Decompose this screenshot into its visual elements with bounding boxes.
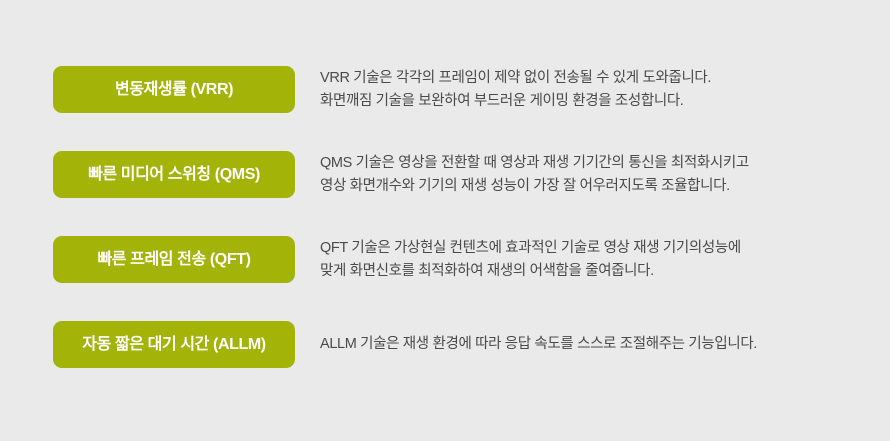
feature-description: VRR 기술은 각각의 프레임이 제약 없이 전송될 수 있게 도와줍니다.화면… [320,66,880,113]
feature-list: 변동재생률 (VRR)VRR 기술은 각각의 프레임이 제약 없이 전송될 수 … [0,0,890,441]
feature-description-line: ALLM 기술은 재생 환경에 따라 응답 속도를 스스로 조절해주는 기능입니… [320,333,880,356]
feature-row: 변동재생률 (VRR)VRR 기술은 각각의 프레임이 제약 없이 전송될 수 … [53,66,853,113]
feature-description: QMS 기술은 영상을 전환할 때 영상과 재생 기기간의 통신을 최적화시키고… [320,151,880,198]
feature-description: ALLM 기술은 재생 환경에 따라 응답 속도를 스스로 조절해주는 기능입니… [320,321,880,368]
feature-description-line: 맞게 화면신호를 최적화하여 재생의 어색함을 줄여줍니다. [320,260,880,283]
feature-description-line: VRR 기술은 각각의 프레임이 제약 없이 전송될 수 있게 도와줍니다. [320,67,880,90]
feature-row: 자동 짧은 대기 시간 (ALLM)ALLM 기술은 재생 환경에 따라 응답 … [53,321,853,368]
feature-badge-label: 변동재생률 (VRR) [115,82,233,98]
feature-badge-label: 자동 짧은 대기 시간 (ALLM) [82,337,265,353]
feature-row: 빠른 프레임 전송 (QFT)QFT 기술은 가상현실 컨텐츠에 효과적인 기술… [53,236,853,283]
feature-description-line: QMS 기술은 영상을 전환할 때 영상과 재생 기기간의 통신을 최적화시키고 [320,152,880,175]
feature-badge-label: 빠른 미디어 스위칭 (QMS) [88,167,260,183]
feature-badge[interactable]: 변동재생률 (VRR) [53,66,295,113]
feature-badge[interactable]: 빠른 프레임 전송 (QFT) [53,236,295,283]
feature-badge[interactable]: 빠른 미디어 스위칭 (QMS) [53,151,295,198]
feature-description: QFT 기술은 가상현실 컨텐츠에 효과적인 기술로 영상 재생 기기의성능에맞… [320,236,880,283]
feature-badge[interactable]: 자동 짧은 대기 시간 (ALLM) [53,321,295,368]
feature-description-line: 영상 화면개수와 기기의 재생 성능이 가장 잘 어우러지도록 조율합니다. [320,175,880,198]
feature-badge-label: 빠른 프레임 전송 (QFT) [97,252,250,268]
feature-description-line: 화면깨짐 기술을 보완하여 부드러운 게이밍 환경을 조성합니다. [320,90,880,113]
feature-description-line: QFT 기술은 가상현실 컨텐츠에 효과적인 기술로 영상 재생 기기의성능에 [320,237,880,260]
feature-row: 빠른 미디어 스위칭 (QMS)QMS 기술은 영상을 전환할 때 영상과 재생… [53,151,853,198]
